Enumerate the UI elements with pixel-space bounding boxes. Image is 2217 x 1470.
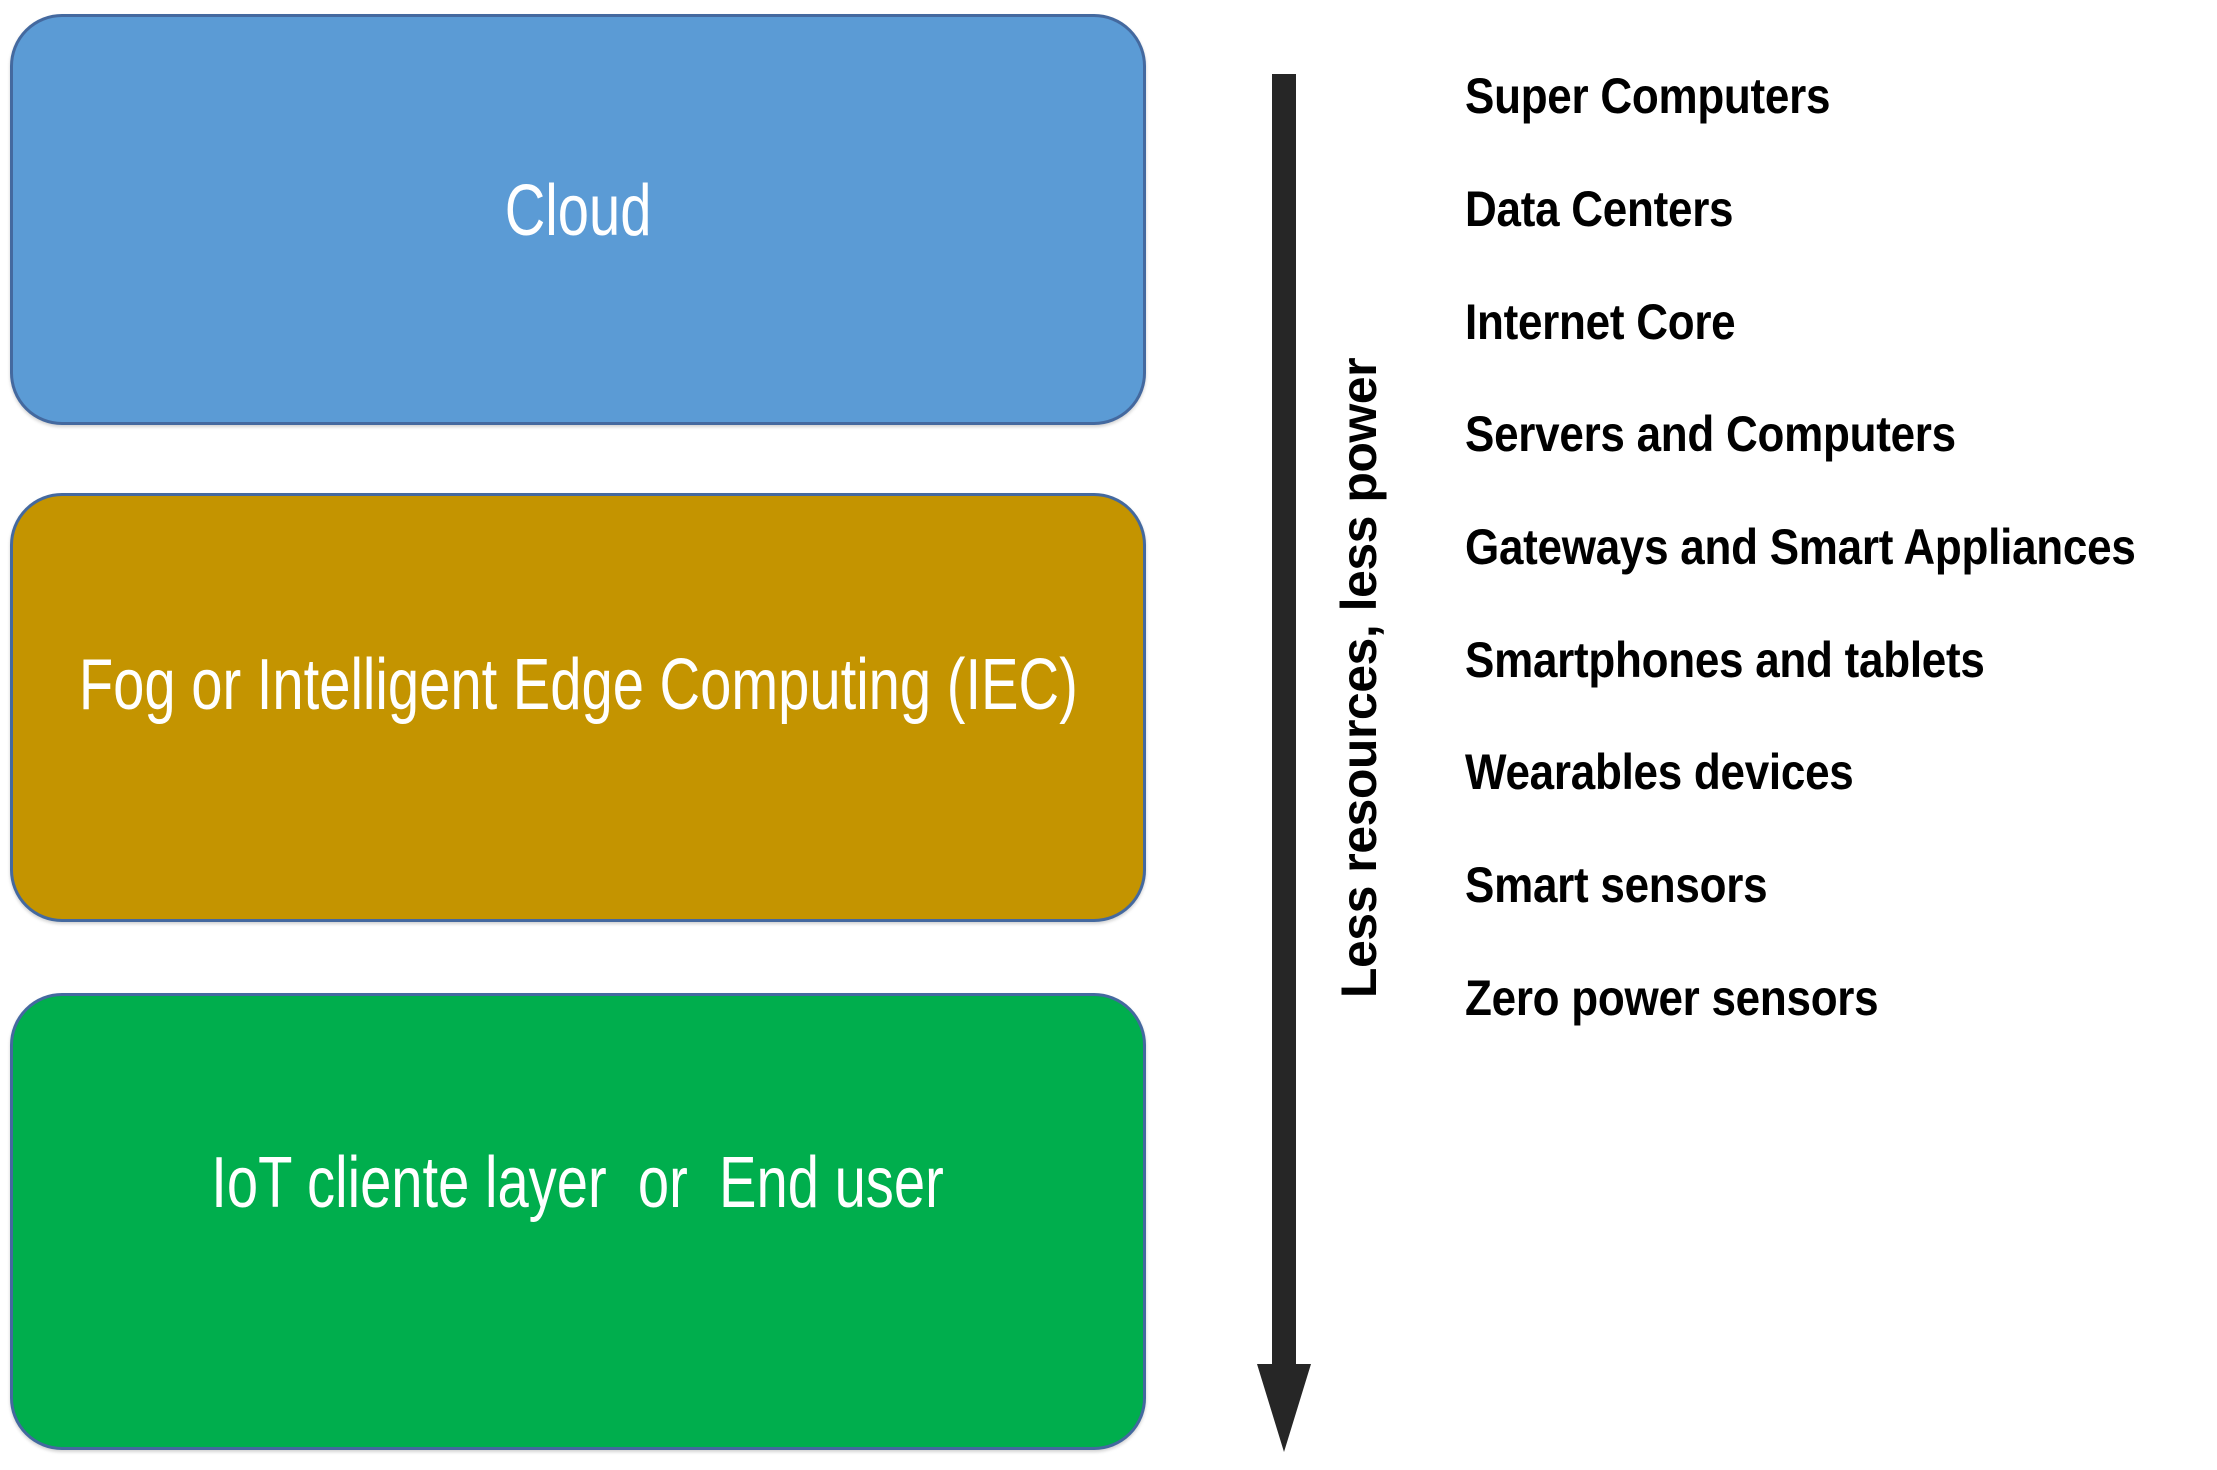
axis-caption-text: Less resources, less power bbox=[1330, 358, 1388, 998]
resource-gradient-arrow bbox=[1255, 74, 1315, 1452]
tier-item-internet-core: Internet Core bbox=[1465, 294, 1735, 350]
layer-box-fog[interactable]: Fog or Intelligent Edge Computing (IEC) bbox=[10, 493, 1146, 922]
axis-caption: Less resources, less power bbox=[1322, 278, 1396, 1078]
tier-item-data-centers: Data Centers bbox=[1465, 181, 1733, 237]
tier-item-zero-power-sensors: Zero power sensors bbox=[1465, 970, 1878, 1026]
device-tier-list: Super Computers Data Centers Internet Co… bbox=[1465, 24, 2205, 1424]
diagram-canvas: Cloud Fog or Intelligent Edge Computing … bbox=[0, 0, 2217, 1470]
layer-box-cloud[interactable]: Cloud bbox=[10, 14, 1146, 425]
tier-item-gateways-and-smart-appliances: Gateways and Smart Appliances bbox=[1465, 519, 2136, 575]
tier-item-wearables-devices: Wearables devices bbox=[1465, 744, 1854, 800]
layer-label-fog: Fog or Intelligent Edge Computing (IEC) bbox=[79, 648, 1078, 724]
tier-item-super-computers: Super Computers bbox=[1465, 68, 1830, 124]
down-arrow-icon bbox=[1255, 74, 1315, 1452]
tier-item-smartphones-and-tablets: Smartphones and tablets bbox=[1465, 632, 1985, 688]
layer-label-cloud: Cloud bbox=[505, 174, 652, 250]
layer-box-iot[interactable]: IoT cliente layer or End user bbox=[10, 993, 1146, 1450]
tier-item-smart-sensors: Smart sensors bbox=[1465, 857, 1767, 913]
layer-label-iot: IoT cliente layer or End user bbox=[212, 1146, 945, 1222]
tier-item-servers-and-computers: Servers and Computers bbox=[1465, 406, 1956, 462]
